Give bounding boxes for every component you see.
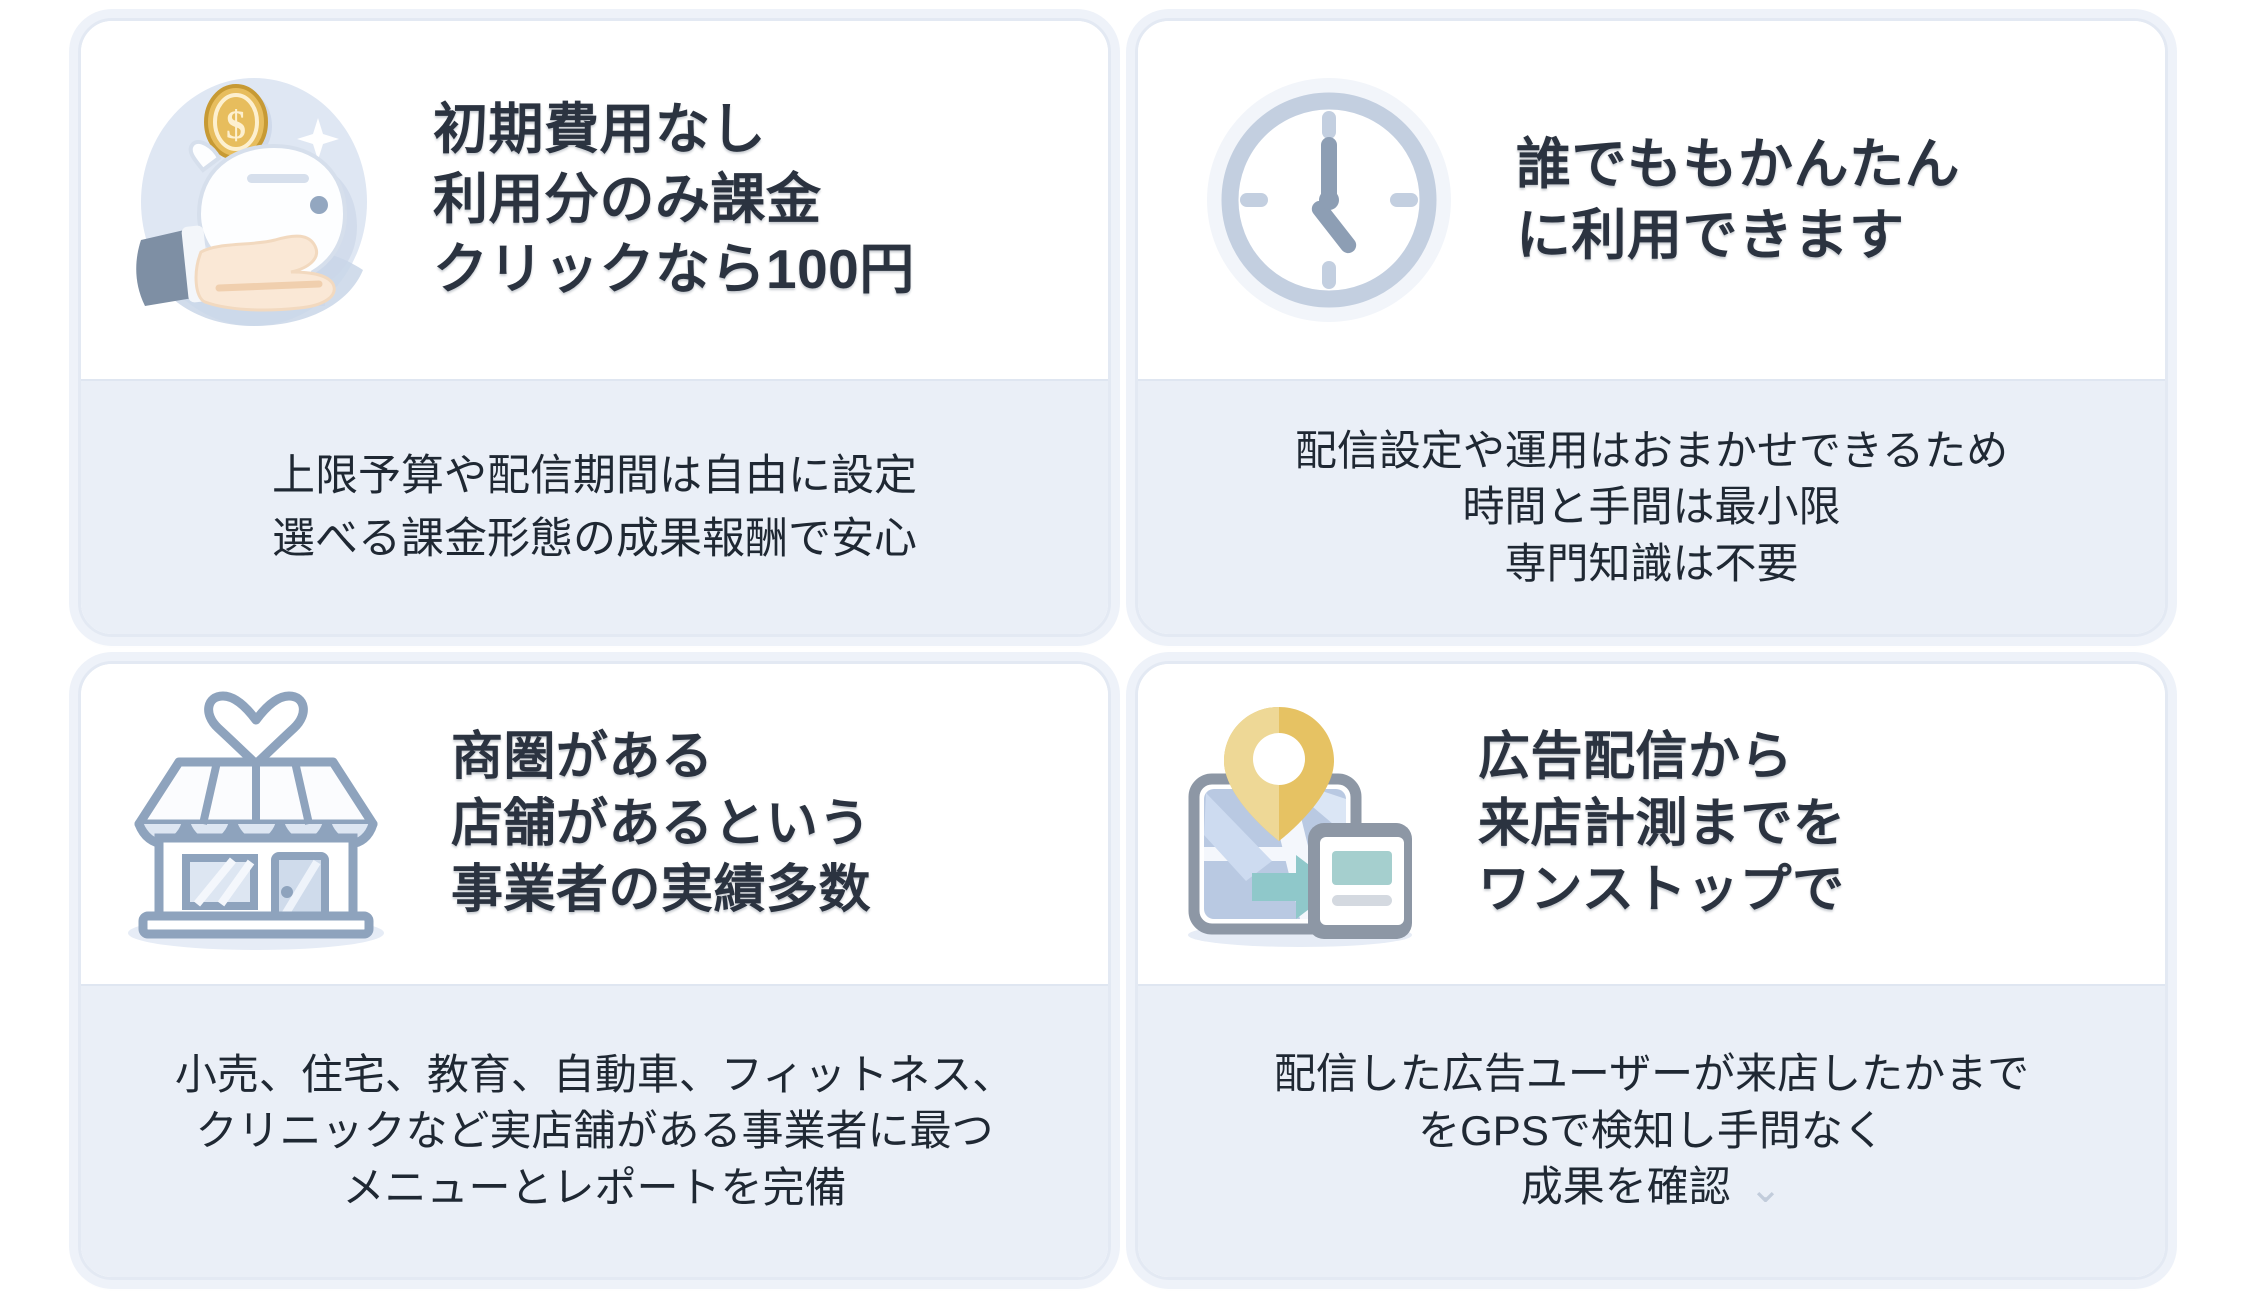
feature-card-one-stop-ad-to-visit[interactable]: 広告配信から 来店計測までを ワンストップで 配信した広告ユーザーが来店したかま… xyxy=(1135,661,2168,1280)
map-pin-report-icon xyxy=(1176,695,1424,953)
feature-card-grid: $ xyxy=(78,18,2168,1280)
title-line: 事業者の実績多数 xyxy=(451,857,1090,924)
card-header: $ xyxy=(81,21,1108,379)
card-header: 誰でももかんたん に利用できます xyxy=(1138,21,2165,379)
feature-card-store-track-record[interactable]: 商圏がある 店舗があるという 事業者の実績多数 小売、住宅、教育、自動車、フィッ… xyxy=(78,661,1111,1280)
title-line: に利用できます xyxy=(1516,200,2147,272)
title-line: 店舗があるという xyxy=(451,791,1090,858)
description-line: 配信した広告ユーザーが来店したかまで xyxy=(1274,1046,2029,1102)
title-line: ワンストップで xyxy=(1478,857,2147,924)
storefront-heart-icon xyxy=(111,690,401,958)
title-line: クリックなら100円 xyxy=(433,235,1090,305)
feature-card-easy-for-anyone[interactable]: 誰でももかんたん に利用できます 配信設定や運用はおまかせできるため 時間と手間… xyxy=(1135,18,2168,637)
description-line: 成果を確認⌄ xyxy=(1521,1159,1783,1217)
features-grid-page: $ xyxy=(0,0,2242,1294)
description-line: 配信設定や運用はおまかせできるため xyxy=(1295,423,2008,479)
title-line: 初期費用なし xyxy=(433,95,1090,165)
card-title: 広告配信から 来店計測までを ワンストップで xyxy=(1478,724,2147,924)
description-line: 選べる課金形態の成果報酬で安心 xyxy=(272,508,917,570)
card-description: 配信設定や運用はおまかせできるため 時間と手間は最小限 専門知識は不要 xyxy=(1138,379,2165,634)
title-line: 商圏がある xyxy=(451,724,1090,791)
description-line: クリニックなど実店舗がある事業者に最つ xyxy=(195,1103,993,1159)
clock-icon xyxy=(1200,71,1458,329)
description-line: 専門知識は不要 xyxy=(1504,536,1798,592)
svg-text:$: $ xyxy=(226,102,246,147)
description-text: 成果を確認 xyxy=(1521,1163,1731,1210)
card-header: 広告配信から 来店計測までを ワンストップで xyxy=(1138,664,2165,984)
title-line: 広告配信から xyxy=(1478,724,2147,791)
description-line: をGPSで検知し手問なく xyxy=(1418,1103,1885,1159)
description-line: メニューとレポートを完備 xyxy=(342,1160,846,1216)
card-description: 配信した広告ユーザーが来店したかまで をGPSで検知し手問なく 成果を確認⌄ xyxy=(1138,984,2165,1277)
description-line: 時間と手間は最小限 xyxy=(1462,479,1840,535)
card-description: 小売、住宅、教育、自動車、フィットネス、 クリニックなど実店舗がある事業者に最つ… xyxy=(81,984,1108,1277)
title-line: 誰でももかんたん xyxy=(1516,129,2147,201)
piggy-bank-coin-hand-icon: $ xyxy=(123,66,385,334)
card-title: 初期費用なし 利用分のみ課金 クリックなら100円 xyxy=(433,95,1090,305)
card-title: 誰でももかんたん に利用できます xyxy=(1516,129,2147,272)
feature-card-no-initial-cost[interactable]: $ xyxy=(78,18,1111,637)
description-line: 上限予算や配信期間は自由に設定 xyxy=(272,445,917,507)
title-line: 来店計測までを xyxy=(1478,791,2147,858)
title-line: 利用分のみ課金 xyxy=(433,165,1090,235)
chevron-down-icon: ⌄ xyxy=(1749,1163,1783,1217)
description-line: 小売、住宅、教育、自動車、フィットネス、 xyxy=(175,1047,1014,1103)
card-header: 商圏がある 店舗があるという 事業者の実績多数 xyxy=(81,664,1108,984)
card-description: 上限予算や配信期間は自由に設定 選べる課金形態の成果報酬で安心 xyxy=(81,379,1108,634)
card-title: 商圏がある 店舗があるという 事業者の実績多数 xyxy=(451,724,1090,924)
